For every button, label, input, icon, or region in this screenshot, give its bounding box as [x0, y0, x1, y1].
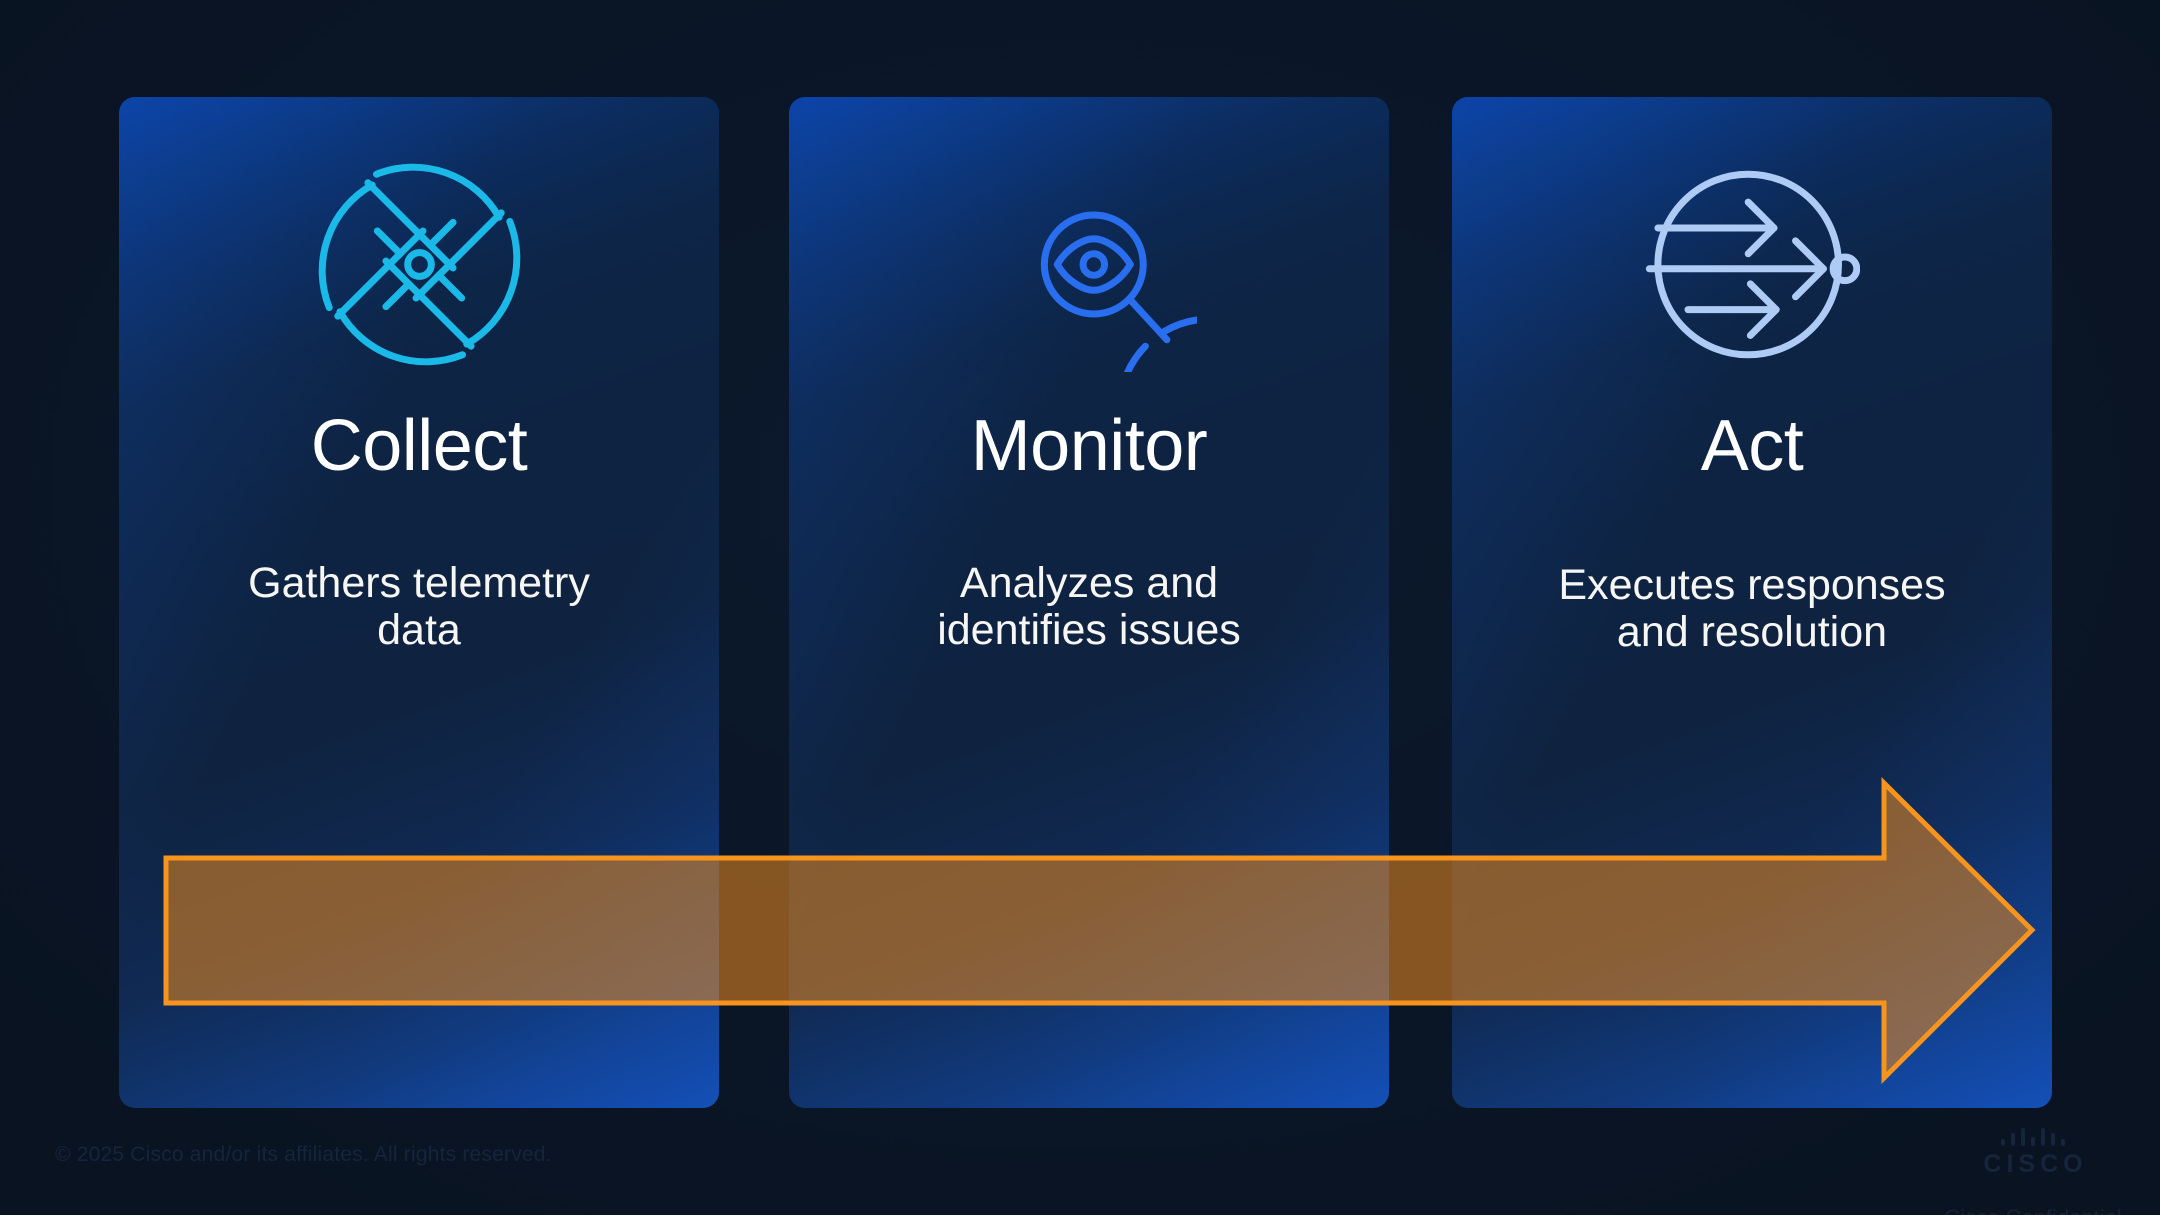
card-title: Monitor: [971, 410, 1208, 482]
confidential-label: Cisco Confidential: [1944, 1205, 2121, 1215]
cisco-bridge-bars: [1971, 1128, 2095, 1146]
card-title: Act: [1701, 410, 1804, 482]
card-monitor[interactable]: Monitor Analyzes and identifies issues: [789, 97, 1389, 1108]
card-description: Executes responses and resolution: [1458, 562, 2046, 656]
brand-block: CISCO Cisco Confidential: [1958, 1128, 2108, 1215]
act-arrows-circle-icon: [1645, 157, 1860, 372]
card-collect[interactable]: Collect Gathers telemetry data: [119, 97, 719, 1108]
card-description: Gathers telemetry data: [143, 560, 695, 654]
cisco-bridge-logo: CISCO: [1971, 1128, 2095, 1179]
card-act[interactable]: Act Executes responses and resolution: [1452, 97, 2052, 1108]
card-title: Collect: [311, 410, 528, 482]
collect-converging-arrows-icon: [312, 157, 527, 372]
card-description: Analyzes and identifies issues: [813, 560, 1365, 654]
monitor-magnifier-eye-icon: [982, 157, 1197, 372]
cisco-wordmark: CISCO: [1971, 1150, 2095, 1179]
slide-canvas: Collect Gathers telemetry data M: [0, 0, 2160, 1215]
footer-copyright: © 2025 Cisco and/or its affiliates. All …: [55, 1143, 552, 1167]
